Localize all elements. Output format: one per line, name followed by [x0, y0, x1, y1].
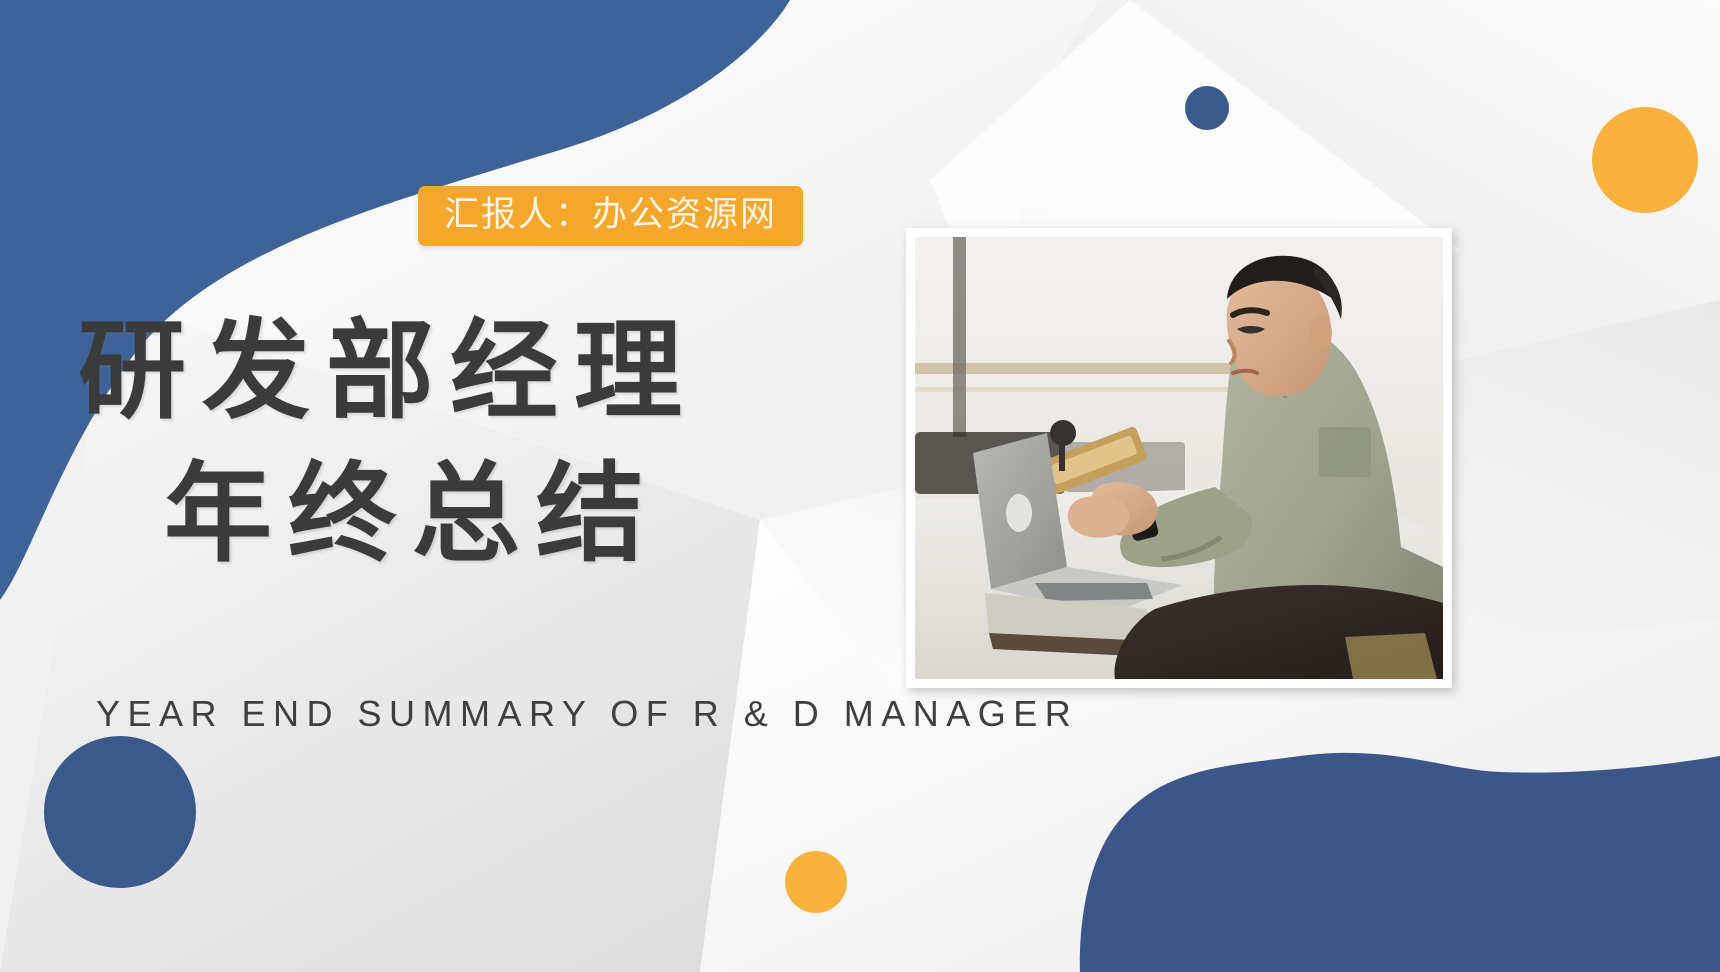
- presentation-slide: 汇报人：办公资源网 研发部经理 年终总结 YEAR END SUMMARY OF…: [0, 0, 1720, 972]
- photo-illustration: [915, 237, 1443, 679]
- photo-trousers: [1345, 633, 1437, 679]
- photo-man-ear: [1310, 317, 1332, 349]
- top-right-blue-circle: [1185, 86, 1229, 130]
- bottom-right-blue-wave: [1080, 753, 1720, 972]
- page-title: 研发部经理 年终总结: [78, 300, 878, 585]
- photo-wall-post: [953, 237, 966, 437]
- photo-laptop-keyboard: [1035, 583, 1153, 601]
- photo-frame: [906, 228, 1452, 688]
- photo-mic-stand: [1059, 437, 1065, 471]
- subtitle-english: YEAR END SUMMARY OF R & D MANAGER: [96, 693, 1078, 735]
- title-line-secondary: 年终总结: [164, 443, 878, 586]
- photo-shirt-pocket: [1319, 427, 1371, 477]
- photo-laptop-logo: [1006, 494, 1032, 532]
- bottom-center-orange-circle: [785, 851, 847, 913]
- photo-man-mouth: [1233, 371, 1257, 373]
- top-right-orange-circle: [1592, 107, 1698, 213]
- bottom-left-blue-circle: [44, 736, 196, 888]
- photo-man-with-phone: [915, 237, 1443, 679]
- presenter-badge: 汇报人：办公资源网: [418, 186, 803, 246]
- photo-man-left-hand: [1068, 496, 1129, 538]
- title-line-primary: 研发部经理: [78, 300, 878, 443]
